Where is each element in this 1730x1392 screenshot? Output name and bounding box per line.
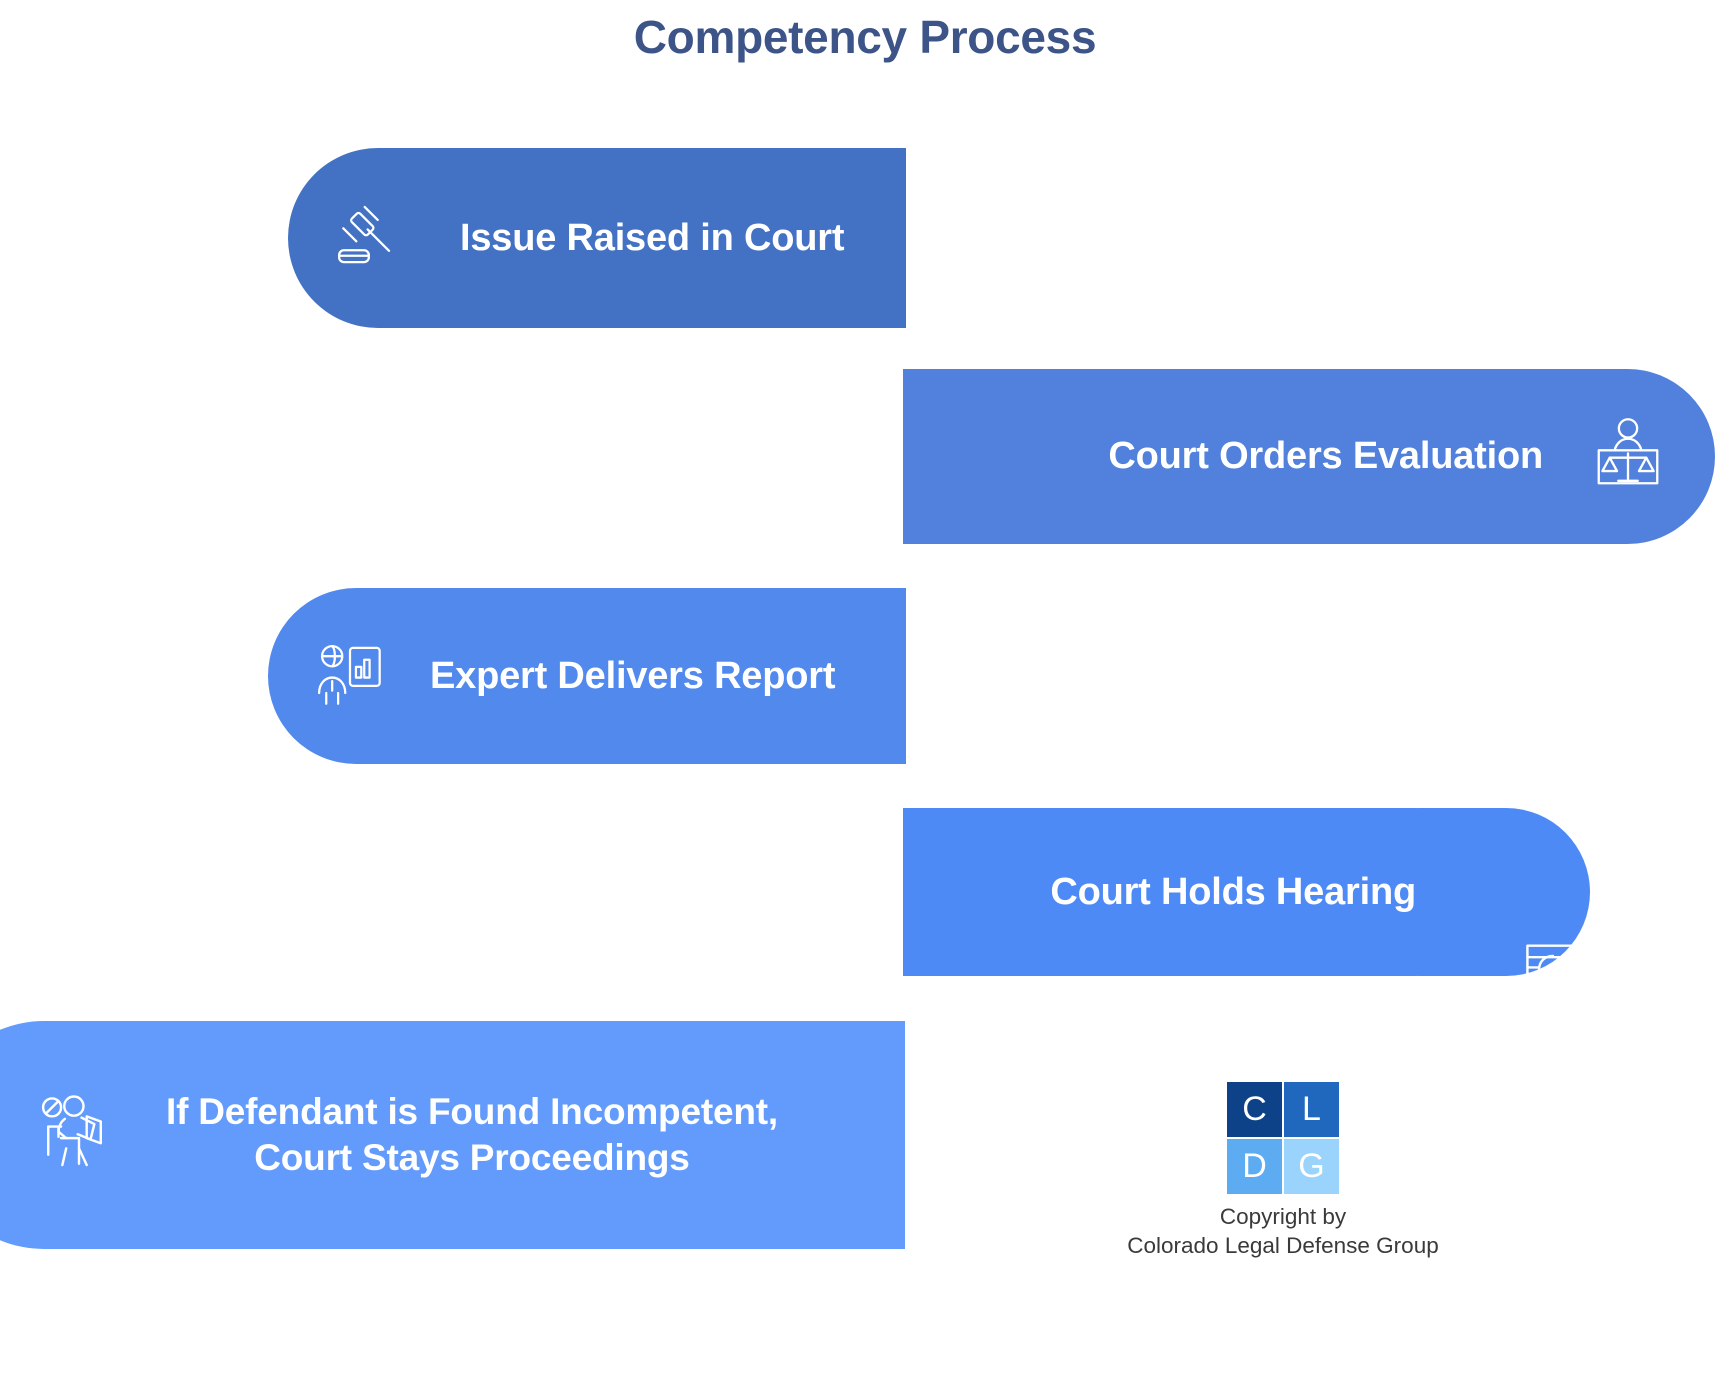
brand-footer: C L D G Copyright by Colorado Legal Defe… [1023, 1082, 1543, 1261]
flow-step-issue-raised-in-court[interactable]: Issue Raised in Court [288, 148, 906, 328]
logo-tile-c: C [1227, 1082, 1282, 1137]
logo-tile-d: D [1227, 1139, 1282, 1194]
logo-tile-l: L [1284, 1082, 1339, 1137]
cldg-logo: C L D G [1227, 1082, 1339, 1194]
flow-step-expert-delivers-report[interactable]: Expert Delivers Report [268, 588, 906, 764]
flow-step-court-orders-evaluation[interactable]: Court Orders Evaluation [903, 369, 1715, 544]
stayed-proceedings-icon [38, 1092, 120, 1179]
flow-step-label: Expert Delivers Report [430, 654, 835, 699]
flow-step-defendant-found-incompetent[interactable]: If Defendant is Found Incompetent, Court… [0, 1021, 905, 1249]
flow-step-label: Issue Raised in Court [460, 216, 844, 261]
courtroom-people-icon [1521, 938, 1603, 1025]
judge-scales-icon [1589, 415, 1667, 498]
flow-step-label: Court Holds Hearing [1050, 870, 1416, 915]
flow-step-label: If Defendant is Found Incompetent, Court… [166, 1089, 778, 1182]
logo-tile-g: G [1284, 1139, 1339, 1194]
copyright-text: Copyright by Colorado Legal Defense Grou… [1023, 1203, 1543, 1261]
expert-report-icon [312, 636, 388, 717]
gavel-icon [332, 198, 408, 279]
flow-step-label: Court Orders Evaluation [1108, 434, 1543, 479]
flow-step-court-holds-hearing[interactable]: Court Holds Hearing [903, 808, 1500, 976]
